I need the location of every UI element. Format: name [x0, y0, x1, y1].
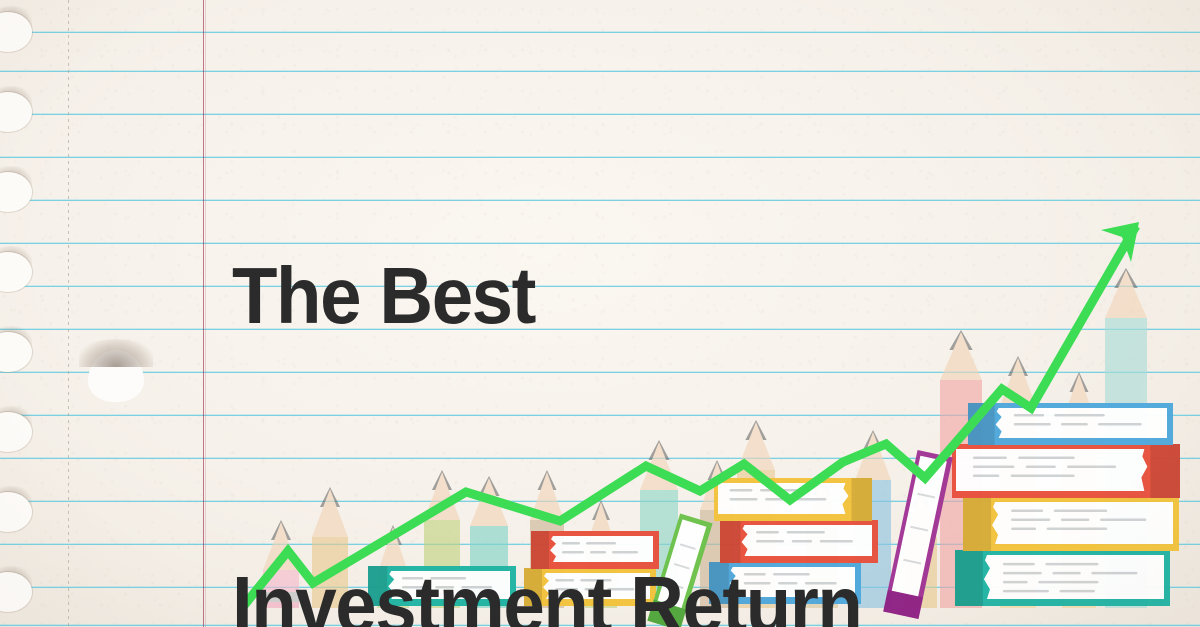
title-line-1: The Best — [232, 244, 957, 347]
graphic-canvas: The Best Investment Return You’ll Ever E… — [0, 0, 1200, 627]
title-line-2: Investment Return — [232, 553, 957, 627]
page-title: The Best Investment Return You’ll Ever E… — [232, 38, 957, 627]
